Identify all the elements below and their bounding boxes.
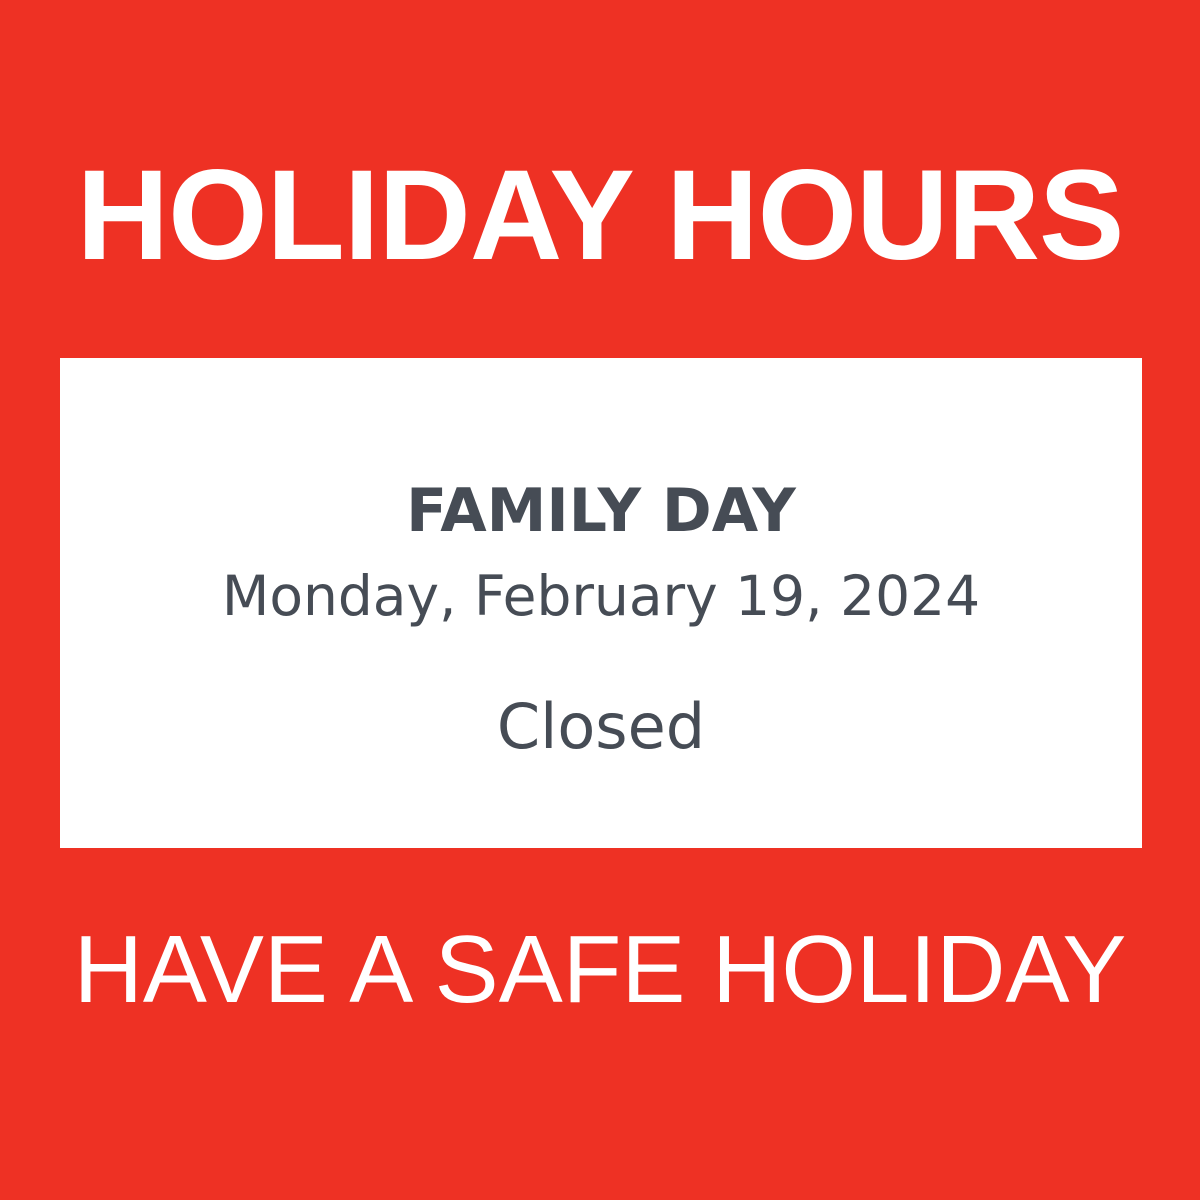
footer-message: HAVE A SAFE HOLIDAY <box>0 922 1200 1018</box>
holiday-date: Monday, February 19, 2024 <box>222 569 980 624</box>
page-title: HOLIDAY HOURS <box>0 152 1200 280</box>
status-badge: Closed <box>497 696 705 758</box>
holiday-name: FAMILY DAY <box>406 481 796 541</box>
holiday-hours-poster: HOLIDAY HOURS FAMILY DAY Monday, Februar… <box>0 0 1200 1200</box>
holiday-info-card: FAMILY DAY Monday, February 19, 2024 Clo… <box>60 358 1142 848</box>
